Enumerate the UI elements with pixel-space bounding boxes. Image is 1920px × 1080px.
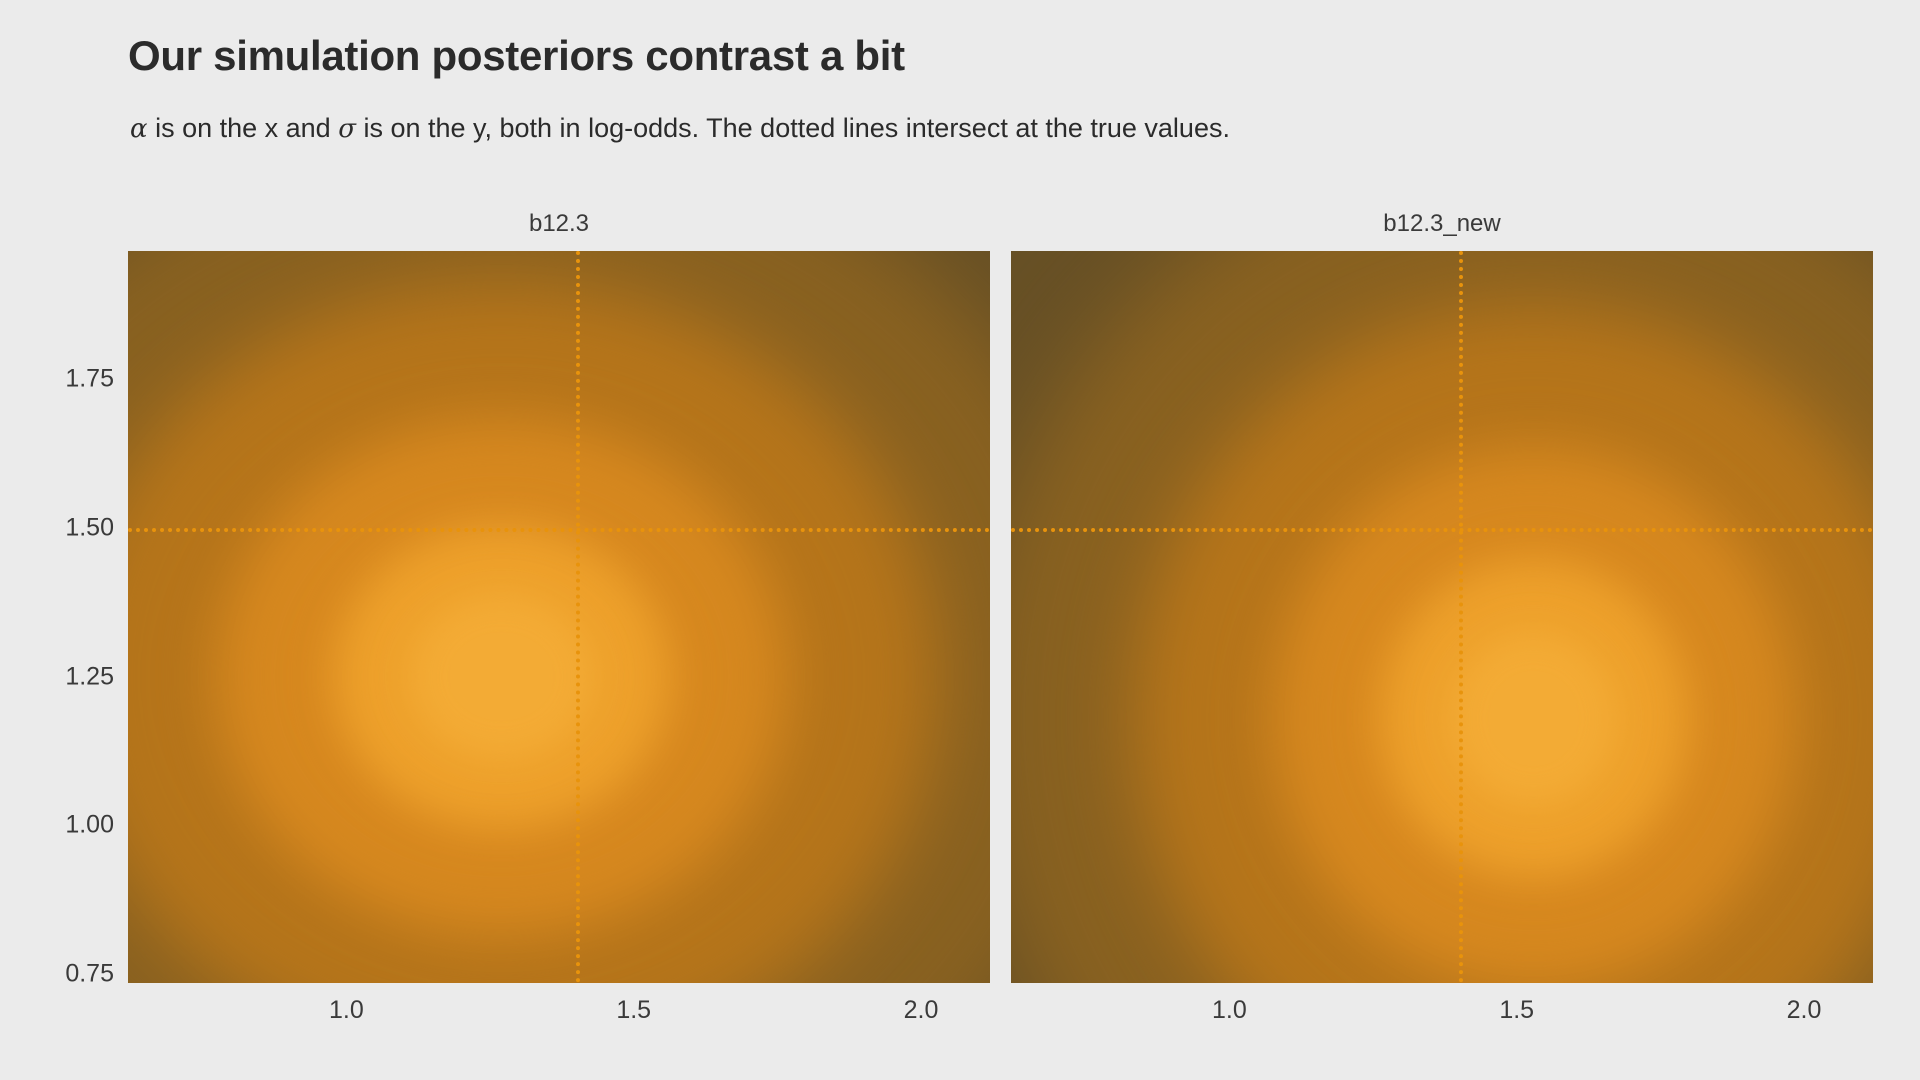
density-contour <box>408 592 594 761</box>
subtitle-text-1: is on the x and <box>148 113 339 143</box>
y-tick-label: 1.25 <box>65 662 114 691</box>
reference-line-horizontal-b12-3 <box>128 528 990 532</box>
x-tick-label: 2.0 <box>904 996 939 1025</box>
x-tick-label: 1.0 <box>329 996 364 1025</box>
y-tick-label: 1.00 <box>65 811 114 840</box>
chart-subtitle: α is on the x and σ is on the y, both in… <box>130 113 1230 144</box>
x-tick-label: 1.5 <box>1499 996 1534 1025</box>
facet-strip-label-b12-3-new: b12.3_new <box>1011 210 1873 238</box>
page-title: Our simulation posteriors contrast a bit <box>128 32 905 80</box>
subtitle-text-2: is on the y, both in log-odds. The dotte… <box>356 113 1230 143</box>
x-tick-label: 2.0 <box>1787 996 1822 1025</box>
y-tick-label: 1.50 <box>65 513 114 542</box>
plot-panel-b12-3-new <box>1011 251 1873 983</box>
facet-strip-label-b12-3: b12.3 <box>128 210 990 238</box>
alpha-symbol: α <box>130 114 148 144</box>
chart-figure: Our simulation posteriors contrast a bit… <box>0 0 1920 1080</box>
y-tick-label: 1.75 <box>65 364 114 393</box>
x-tick-label: 1.5 <box>616 996 651 1025</box>
reference-line-vertical-b12-3 <box>576 251 580 983</box>
sigma-symbol: σ <box>338 114 356 144</box>
y-tick-label: 0.75 <box>65 960 114 989</box>
reference-line-horizontal-b12-3-new <box>1011 528 1873 532</box>
density-surface-b12-3-new <box>1011 251 1873 983</box>
reference-line-vertical-b12-3-new <box>1459 251 1463 983</box>
x-tick-label: 1.0 <box>1212 996 1247 1025</box>
plot-panel-b12-3 <box>128 251 990 983</box>
density-surface-b12-3 <box>128 251 990 983</box>
density-contour <box>1448 630 1619 807</box>
